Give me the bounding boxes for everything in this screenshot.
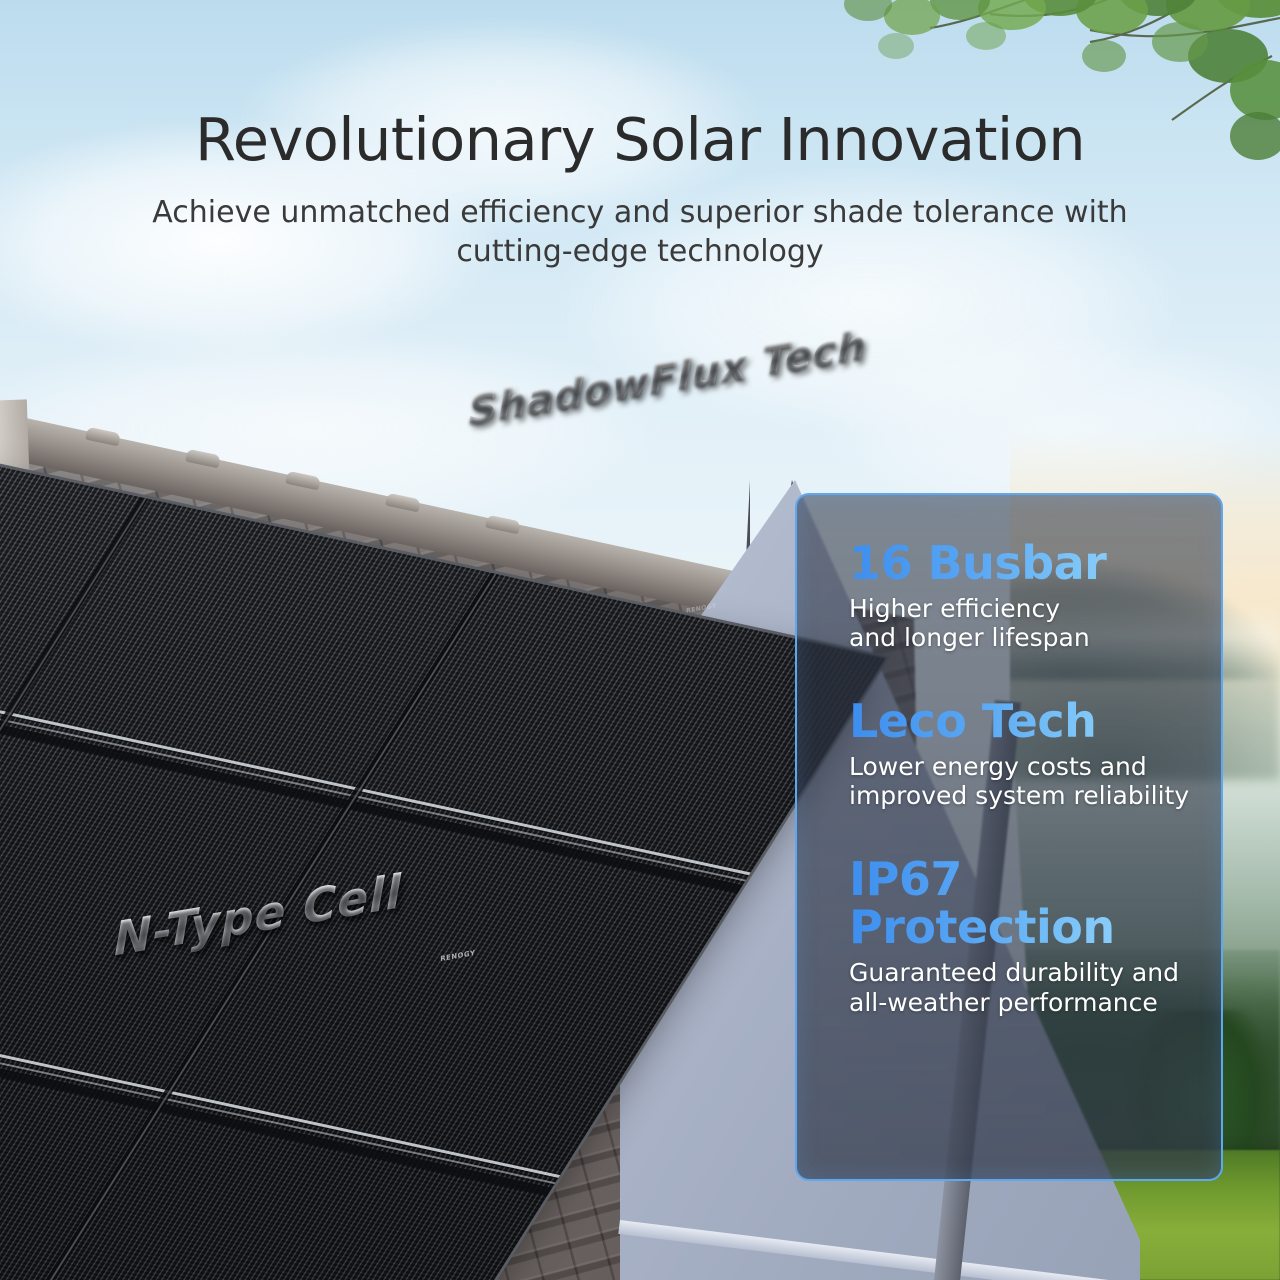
- feature-item-leco-tech: Leco Tech Lower energy costs and improve…: [849, 697, 1199, 811]
- feature-card: 16 Busbar Higher efficiency and longer l…: [795, 493, 1223, 1181]
- hero-banner: ShadowFlux Tech ShadowFlux Tech N-Type C…: [0, 0, 1280, 1280]
- feature-item-16-busbar: 16 Busbar Higher efficiency and longer l…: [849, 539, 1199, 653]
- feature-item-ip67-protection: IP67 Protection Guaranteed durability an…: [849, 855, 1199, 1018]
- feature-title: IP67 Protection: [849, 855, 1199, 953]
- feature-title: Leco Tech: [849, 697, 1199, 746]
- feature-description: Lower energy costs and improved system r…: [849, 752, 1199, 811]
- header: Revolutionary Solar Innovation Achieve u…: [0, 0, 1280, 271]
- page-subtitle: Achieve unmatched efficiency and superio…: [110, 193, 1170, 271]
- feature-description: Higher efficiency and longer lifespan: [849, 594, 1199, 653]
- panel-row-gap: [0, 959, 552, 1195]
- panel-busbar-seam: [0, 954, 556, 1184]
- chimney: [0, 399, 29, 470]
- page-title: Revolutionary Solar Innovation: [0, 108, 1280, 173]
- feature-description: Guaranteed durability and all-weather pe…: [849, 958, 1199, 1017]
- feature-title: 16 Busbar: [849, 539, 1199, 588]
- panel-busbar-seam: [0, 947, 560, 1178]
